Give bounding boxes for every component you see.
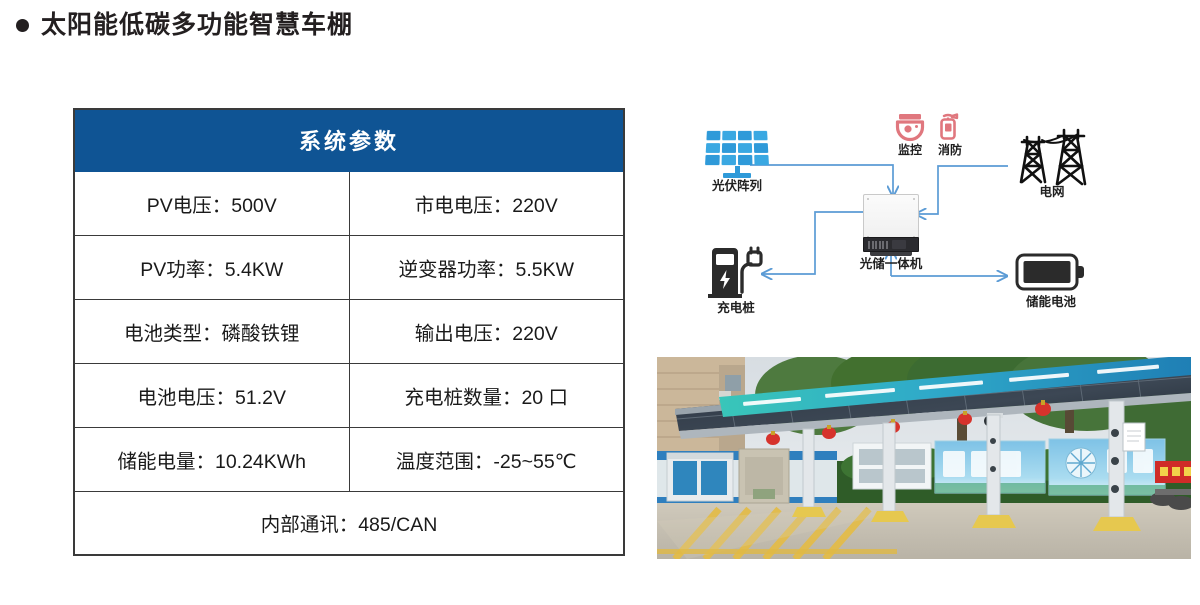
cell-charger-count: 充电桩数量：20 口	[349, 363, 624, 427]
cell-pv-power: PV功率：5.4KW	[74, 235, 349, 299]
cell-battery-type: 电池类型：磷酸铁锂	[74, 299, 349, 363]
diagram-node-label: 监控	[894, 144, 926, 157]
cell-battery-voltage: 电池电压：51.2V	[74, 363, 349, 427]
diagram-node-label: 消防	[935, 144, 965, 157]
slide-page: 太阳能低碳多功能智慧车棚 系统参数 PV电压：500V 市电电压：220V PV…	[0, 0, 1200, 605]
cell-output-voltage: 输出电压：220V	[349, 299, 624, 363]
cell-temp-range: 温度范围：-25~55℃	[349, 427, 624, 491]
power-tower-icon	[1008, 128, 1096, 186]
bullet-dot-icon	[16, 19, 29, 32]
table-row: 电池类型：磷酸铁锂 输出电压：220V	[74, 299, 624, 363]
diagram-node-label: 充电桩	[682, 302, 790, 316]
diagram-node-battery: 储能电池	[997, 250, 1105, 310]
table-row: PV电压：500V 市电电压：220V	[74, 171, 624, 235]
table-row-footer: 内部通讯：485/CAN	[74, 491, 624, 555]
table-row: 储能电量：10.24KWh 温度范围：-25~55℃	[74, 427, 624, 491]
system-parameters-table: 系统参数 PV电压：500V 市电电压：220V PV功率：5.4KW 逆变器功…	[73, 108, 625, 556]
solar-panel-icon	[706, 130, 768, 178]
page-title-text: 太阳能低碳多功能智慧车棚	[41, 13, 353, 38]
cell-inverter-power: 逆变器功率：5.5KW	[349, 235, 624, 299]
cell-internal-comm: 内部通讯：485/CAN	[74, 491, 624, 555]
fire-node: 消防	[935, 112, 965, 157]
cell-mains-voltage: 市电电压：220V	[349, 171, 624, 235]
table-row: 电池电压：51.2V 充电桩数量：20 口	[74, 363, 624, 427]
fire-extinguisher-icon	[935, 112, 965, 142]
solar-carport-photo	[657, 357, 1191, 559]
table-header-cell: 系统参数	[74, 109, 624, 171]
diagram-node-inverter: 光储一体机	[863, 194, 919, 272]
table-row: PV功率：5.4KW 逆变器功率：5.5KW	[74, 235, 624, 299]
system-flow-diagram: 光伏阵列 监控	[652, 108, 1192, 346]
photo-content	[657, 357, 1191, 559]
charging-pile-icon	[706, 246, 766, 300]
diagram-node-label: 储能电池	[997, 296, 1105, 310]
inverter-cabinet-icon	[863, 194, 919, 256]
diagram-node-label: 光储一体机	[839, 258, 943, 272]
diagram-node-grid: 电网	[997, 128, 1107, 200]
cell-pv-voltage: PV电压：500V	[74, 171, 349, 235]
diagram-node-charger: 充电桩	[682, 246, 790, 316]
diagram-node-label: 电网	[997, 186, 1107, 200]
cctv-camera-icon	[894, 112, 926, 142]
battery-icon	[1015, 250, 1087, 294]
cell-storage-energy: 储能电量：10.24KWh	[74, 427, 349, 491]
flow-grid-to-inverter	[916, 166, 1008, 214]
diagram-node-pv-array: 光伏阵列	[682, 130, 792, 194]
monitor-node: 监控	[894, 112, 926, 157]
diagram-node-safety-icons: 监控 消防	[894, 112, 965, 157]
table-header-row: 系统参数	[74, 109, 624, 171]
page-title: 太阳能低碳多功能智慧车棚	[16, 13, 353, 38]
diagram-node-label: 光伏阵列	[682, 180, 792, 194]
